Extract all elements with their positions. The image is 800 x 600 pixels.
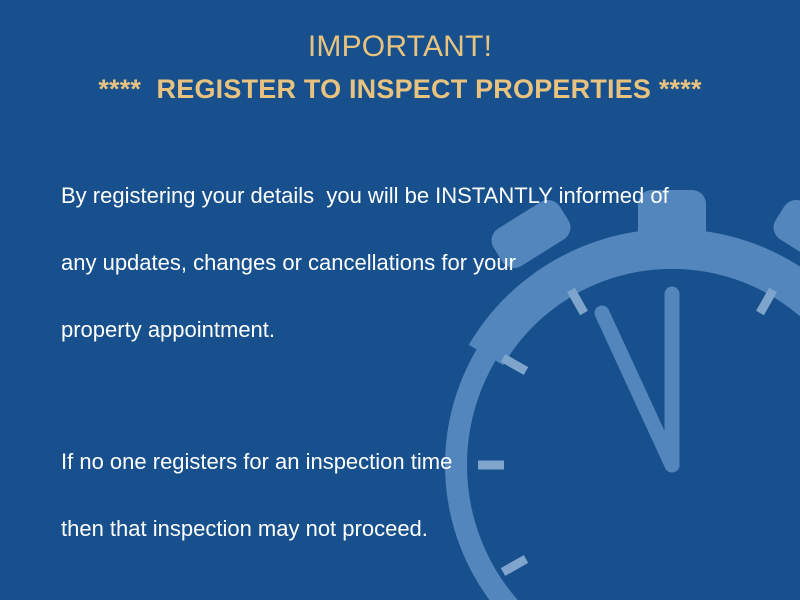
- paragraph2-line-1: If no one registers for an inspection ti…: [61, 446, 721, 477]
- paragraph1-line-2: any updates, changes or cancellations fo…: [61, 247, 721, 278]
- paragraph2-line-2: then that inspection may not proceed.: [61, 513, 721, 544]
- paragraph-no-registration-warning: If no one registers for an inspection ti…: [61, 410, 721, 580]
- paragraph1-line-3: property appointment.: [61, 314, 721, 345]
- paragraph-spacer-2: [61, 580, 721, 600]
- heading-important: IMPORTANT!: [0, 28, 800, 66]
- paragraph-spacer-1: [61, 381, 721, 410]
- heading-register-to-inspect-properties: **** REGISTER TO INSPECT PROPERTIES ****: [0, 70, 800, 108]
- body-block: By registering your details you will be …: [61, 144, 721, 600]
- paragraph-registering-details: By registering your details you will be …: [61, 144, 721, 381]
- slide-content: IMPORTANT! **** REGISTER TO INSPECT PROP…: [0, 0, 800, 600]
- heading-block: IMPORTANT! **** REGISTER TO INSPECT PROP…: [0, 28, 800, 108]
- slide-canvas: IMPORTANT! **** REGISTER TO INSPECT PROP…: [0, 0, 800, 600]
- paragraph1-line-1: By registering your details you will be …: [61, 180, 721, 211]
